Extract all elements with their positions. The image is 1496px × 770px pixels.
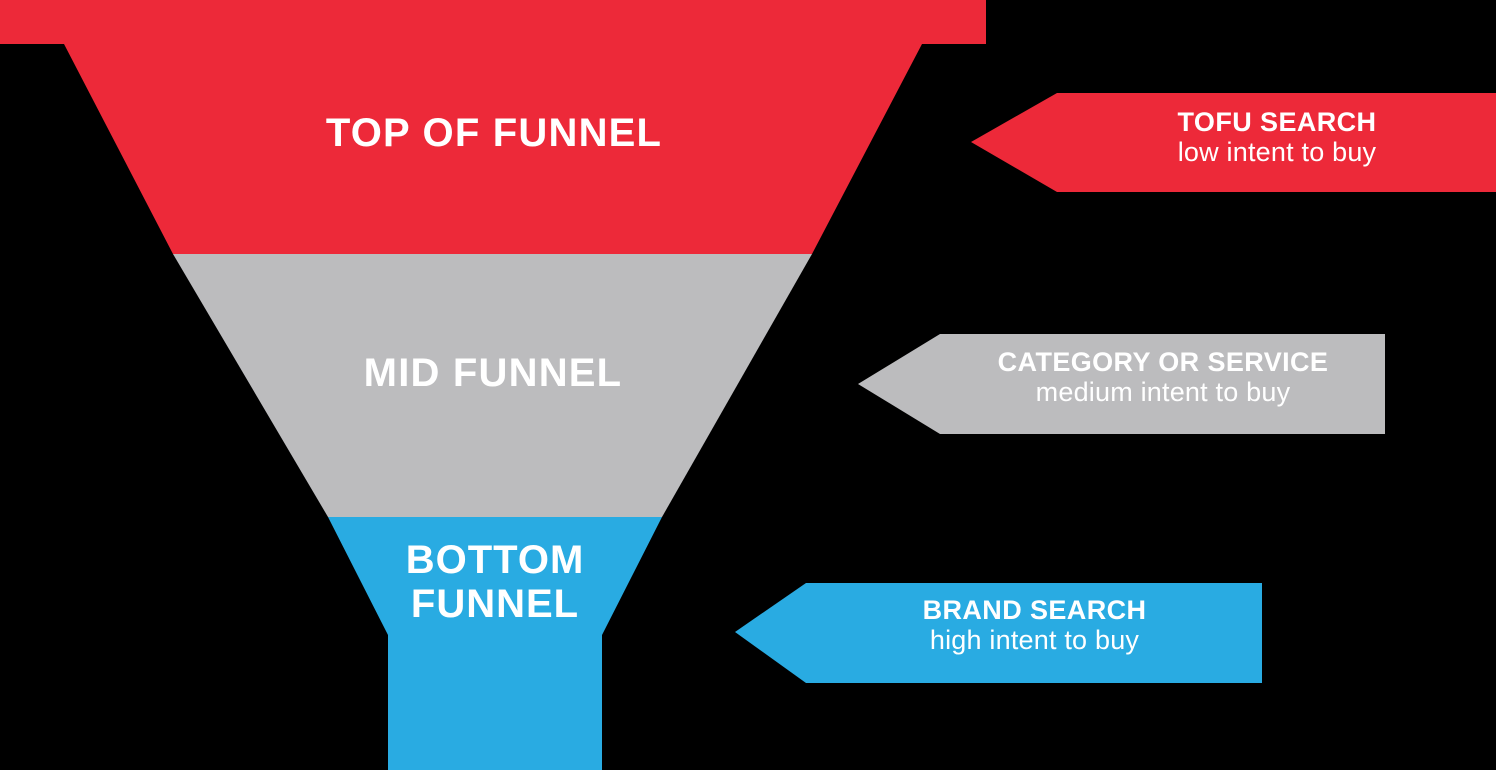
funnel-diagram: TOP OF FUNNEL MID FUNNEL BOTTOMFUNNEL TO… bbox=[0, 0, 1496, 770]
callout-arrow-tofu-shape bbox=[971, 93, 1496, 192]
callout-arrow-brand-shape bbox=[735, 583, 1262, 683]
callout-arrows bbox=[0, 0, 1496, 770]
callout-arrow-mid-shape bbox=[858, 334, 1385, 434]
